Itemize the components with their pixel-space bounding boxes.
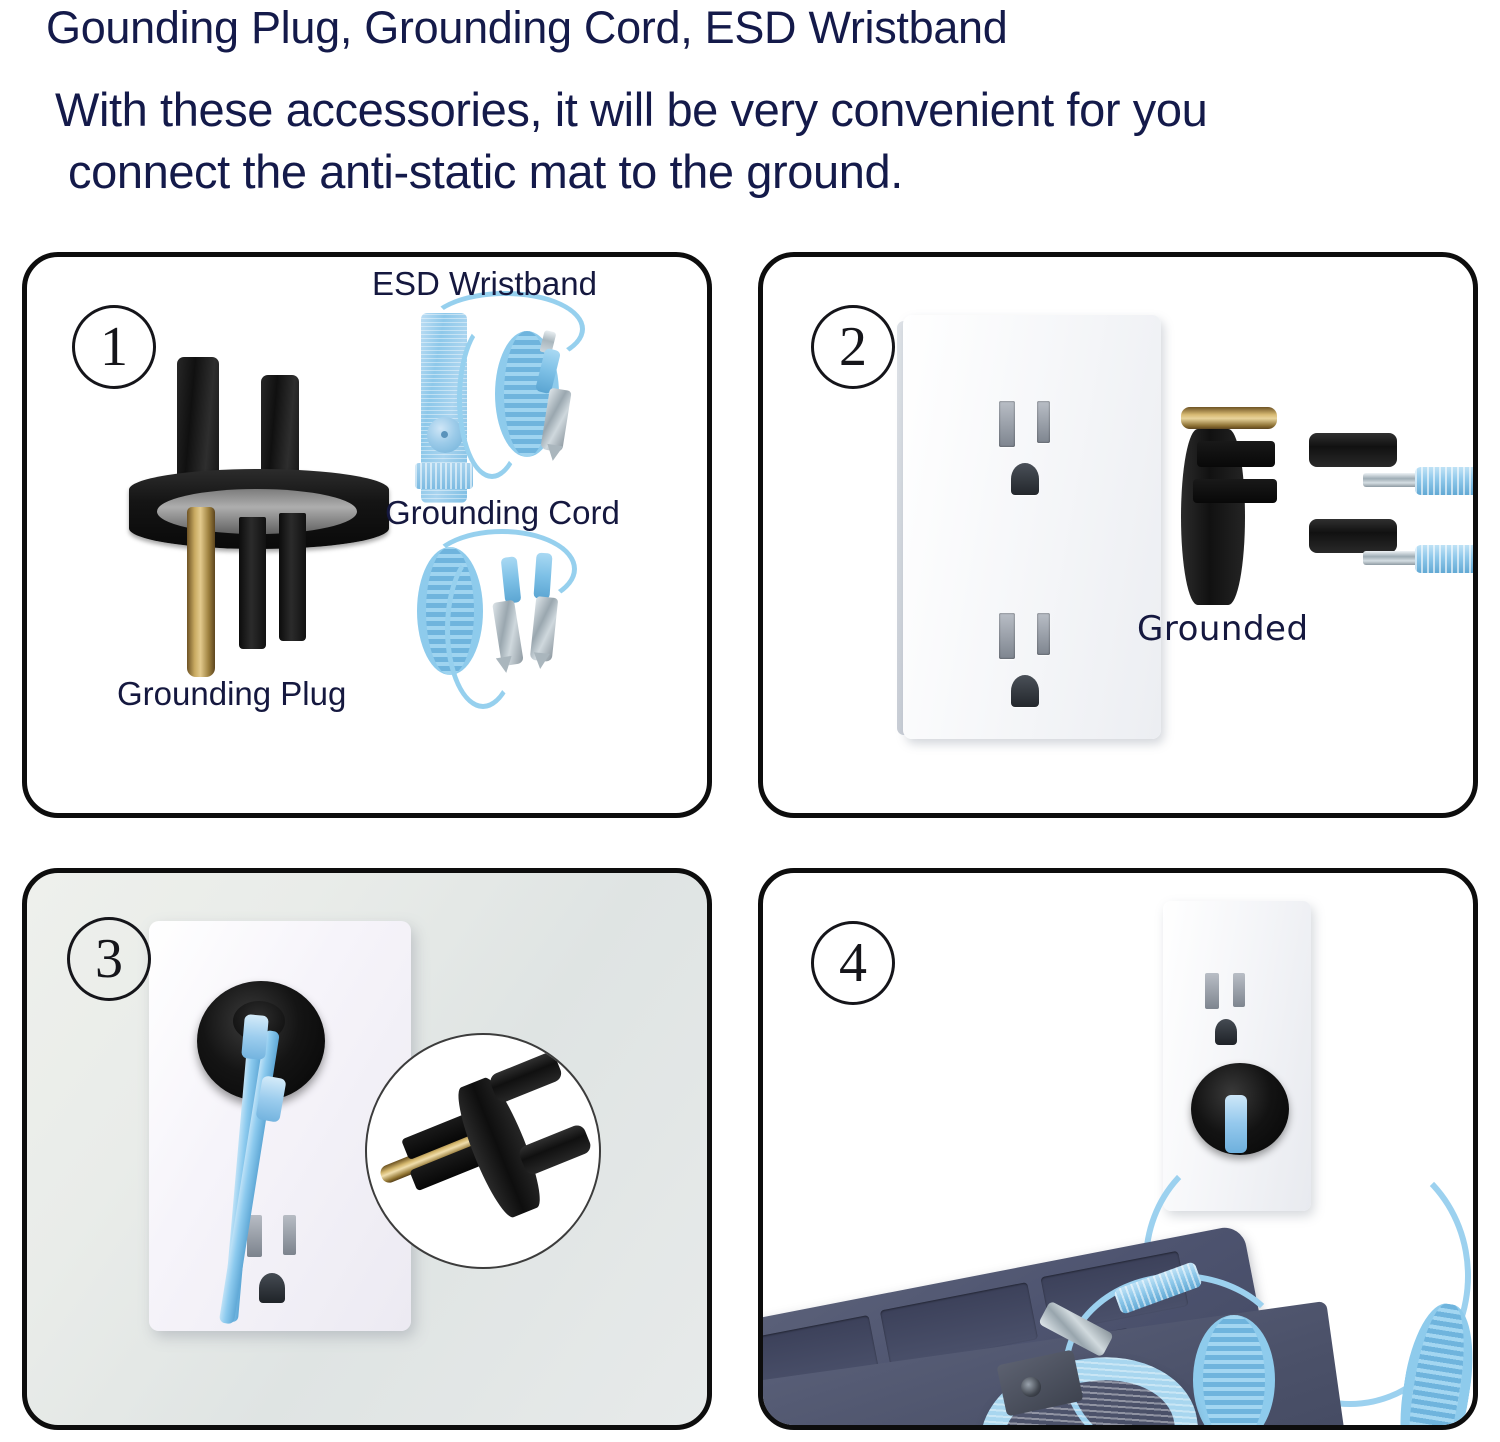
plug-socket-prong-left <box>177 357 219 482</box>
receptacle-top-slot-left <box>999 401 1015 447</box>
label-grounded: Grounded <box>1137 609 1309 649</box>
plug-brass-ground-pin <box>1181 407 1277 429</box>
receptacle-bottom <box>903 527 1161 739</box>
subtitle-line-1: With these accessories, it will be very … <box>55 82 1207 137</box>
receptacle-bottom-slot-right <box>283 1215 296 1255</box>
receptacle-ground-hole <box>1215 1019 1237 1045</box>
receptacle-slot-left <box>1205 973 1219 1009</box>
grounding-plug-icon <box>129 357 399 657</box>
header: Gounding Plug, Grounding Cord, ESD Wrist… <box>0 0 1500 212</box>
step-panel-4: 4 <box>758 868 1478 1430</box>
plug-brass-ground-pin <box>187 507 215 677</box>
receptacle-top-ground-hole <box>1011 463 1039 495</box>
mat-slot-9 <box>766 1429 809 1430</box>
plug-socket-bottom <box>517 1123 593 1177</box>
step-badge-4: 4 <box>811 921 895 1005</box>
plug-blade-bottom <box>1193 479 1277 503</box>
step-panel-2: 2 Grounded <box>758 252 1478 818</box>
grounding-plug-detail-icon <box>373 1047 596 1254</box>
wall-outlet-icon <box>903 315 1161 739</box>
receptacle-bottom-slot-right <box>1037 613 1050 655</box>
banana-plug-pin <box>1363 473 1419 487</box>
receptacle-top-slot-right <box>1037 401 1050 443</box>
receptacle-bottom-slot-left <box>999 613 1015 659</box>
step-badge-3: 3 <box>67 917 151 1001</box>
subtitle-line-2: connect the anti-static mat to the groun… <box>68 144 903 199</box>
label-grounding-cord: Grounding Cord <box>385 494 620 532</box>
grounding-plug-icon <box>1181 407 1411 607</box>
label-esd-wristband: ESD Wristband <box>372 265 597 303</box>
label-grounding-plug: Grounding Plug <box>117 675 346 713</box>
step-badge-1: 1 <box>72 305 156 389</box>
plug-blade-left <box>239 517 266 649</box>
plug-socket-bottom <box>1309 519 1397 553</box>
wristband-buckle-texture <box>415 463 473 489</box>
plug-blade-top <box>1197 441 1275 467</box>
detail-circle-inset <box>365 1033 601 1269</box>
step-panel-1: 1 ESD Wristband Grounding Cord Grounding… <box>22 252 712 818</box>
alligator-clip-jaw <box>545 444 563 462</box>
receptacle-slot-right <box>1233 973 1245 1007</box>
step-badge-2: 2 <box>811 305 895 389</box>
banana-plug-ribs <box>1415 545 1478 573</box>
page-title: Gounding Plug, Grounding Cord, ESD Wrist… <box>46 2 1008 54</box>
banana-plug-ribs <box>1415 467 1478 495</box>
cable-ferrule-1 <box>241 1014 269 1060</box>
plug-socket-top <box>488 1050 564 1104</box>
grounding-cord-clip-right-jaw <box>532 652 550 670</box>
receptacle-bottom-ground-hole <box>1011 675 1039 707</box>
grounding-cord-banana-right <box>533 552 552 599</box>
plug-blade-right <box>279 513 306 641</box>
banana-plug-pin <box>1363 551 1419 565</box>
step-panel-3: 3 <box>22 868 712 1430</box>
wristband-snap-stud <box>441 431 448 438</box>
plug-socket-top <box>1309 433 1397 467</box>
receptacle-bottom-ground-hole <box>259 1273 285 1303</box>
grounding-cord-clip-left-jaw <box>496 656 514 674</box>
receptacle-top <box>903 315 1161 527</box>
